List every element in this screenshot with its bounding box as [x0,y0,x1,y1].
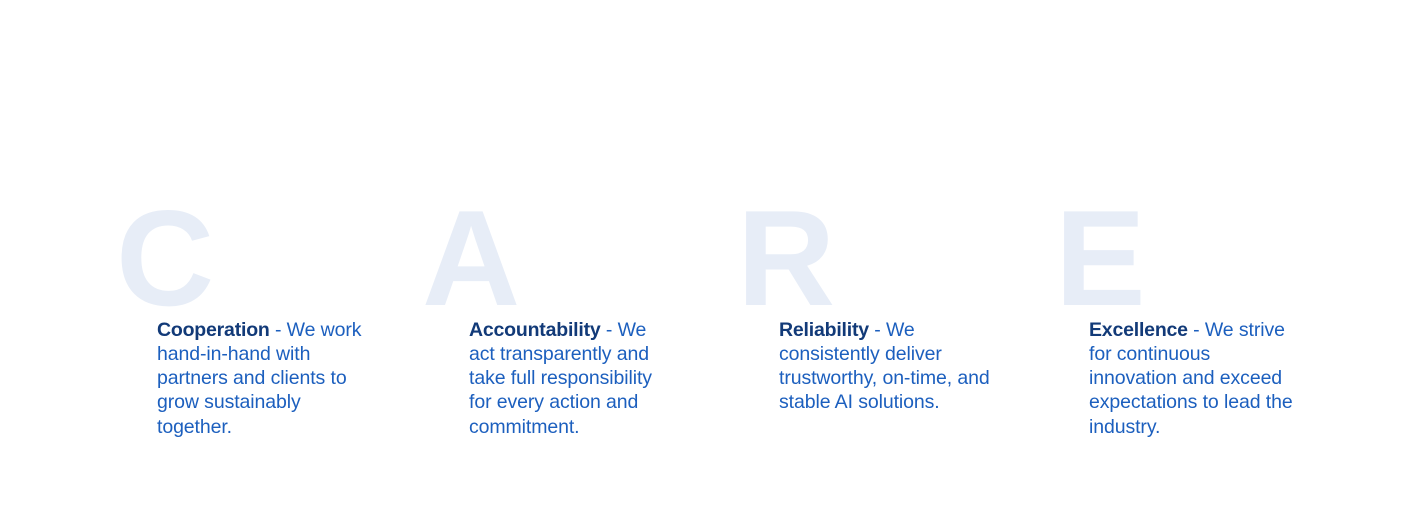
value-card-excellence: E Excellence - We strive for continuous … [1046,0,1358,514]
value-title-excellence: Excellence [1089,319,1188,341]
value-card-accountability: A Accountability - We act transparently … [422,0,734,514]
value-card-cooperation: C Cooperation - We work hand-in-hand wit… [110,0,422,514]
watermark-letter-r: R [734,190,1049,326]
watermark-letter-c: C [110,190,428,326]
value-separator-reliability: - [869,319,886,341]
values-row: C Cooperation - We work hand-in-hand wit… [0,0,1404,514]
value-card-reliability: R Reliability - We consistently deliver … [734,0,1046,514]
value-text-excellence: Excellence - We strive for continuous in… [1089,318,1295,439]
value-title-reliability: Reliability [779,319,869,341]
value-text-reliability: Reliability - We consistently deliver tr… [779,318,991,415]
watermark-letter-e: E [1046,190,1367,326]
value-title-accountability: Accountability [469,319,601,341]
value-separator-cooperation: - [270,319,287,341]
value-title-cooperation: Cooperation [157,319,270,341]
care-values-section: C Cooperation - We work hand-in-hand wit… [0,0,1404,514]
watermark-letter-a: A [422,190,734,326]
value-separator-excellence: - [1188,319,1205,341]
value-text-accountability: Accountability - We act transparently an… [469,318,675,439]
value-separator-accountability: - [601,319,618,341]
value-text-cooperation: Cooperation - We work hand-in-hand with … [157,318,369,439]
